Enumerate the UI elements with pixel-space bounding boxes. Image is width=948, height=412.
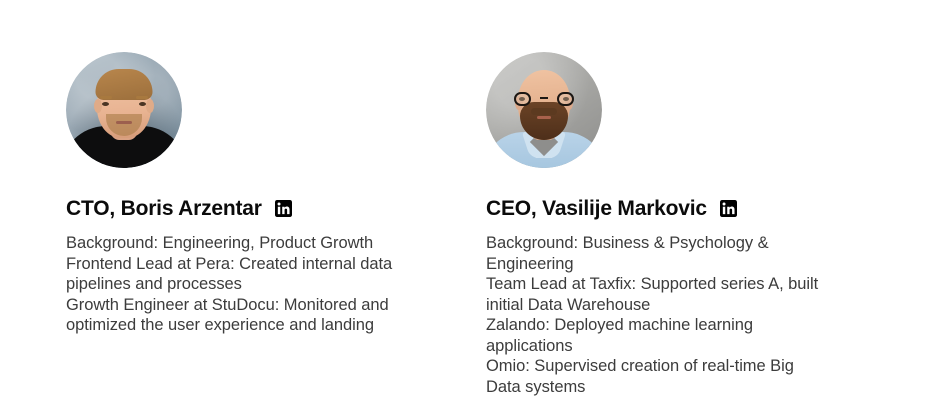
bio-line: Growth Engineer at StuDocu: Monitored an…	[66, 295, 406, 336]
avatar-eyebrow-left	[100, 96, 112, 99]
avatar-eye-right	[139, 102, 146, 106]
member-heading-ceo: CEO, Vasilije Markovic	[486, 197, 948, 220]
avatar-moustache	[531, 108, 557, 115]
bio-line: Background: Business & Psychology & Engi…	[486, 233, 831, 274]
avatar-photo	[486, 52, 602, 168]
bio-line: Team Lead at Taxfix: Supported series A,…	[486, 274, 831, 315]
avatar-mouth	[537, 116, 551, 119]
team-members-grid: CTO, Boris Arzentar Background: Engineer…	[0, 0, 948, 412]
avatar-photo	[66, 52, 182, 168]
avatar-glasses-lens-left	[514, 92, 531, 106]
member-bio-ceo: Background: Business & Psychology & Engi…	[486, 233, 831, 397]
avatar-eye-left	[102, 102, 109, 106]
avatar-ear-left	[94, 99, 102, 113]
avatar-ear-right	[146, 99, 154, 113]
team-member-card-cto: CTO, Boris Arzentar Background: Engineer…	[0, 0, 444, 412]
avatar-boris-arzentar	[66, 52, 182, 168]
avatar-eyebrow-right	[136, 96, 148, 99]
linkedin-icon[interactable]	[275, 200, 292, 217]
linkedin-icon[interactable]	[720, 200, 737, 217]
team-member-card-ceo: CEO, Vasilije Markovic Background: Busin…	[444, 0, 948, 412]
bio-line: Background: Engineering, Product Growth	[66, 233, 406, 254]
avatar-glasses-lens-right	[557, 92, 574, 106]
member-name-cto: CTO, Boris Arzentar	[66, 197, 262, 220]
member-name-ceo: CEO, Vasilije Markovic	[486, 197, 707, 220]
member-heading-cto: CTO, Boris Arzentar	[66, 197, 444, 220]
member-bio-cto: Background: Engineering, Product Growth …	[66, 233, 406, 336]
avatar-mouth	[116, 121, 132, 124]
avatar-vasilije-markovic	[486, 52, 602, 168]
bio-line: Omio: Supervised creation of real-time B…	[486, 356, 831, 397]
bio-line: Frontend Lead at Pera: Created internal …	[66, 254, 406, 295]
bio-line: Zalando: Deployed machine learning appli…	[486, 315, 831, 356]
avatar-glasses-bridge	[540, 97, 548, 99]
